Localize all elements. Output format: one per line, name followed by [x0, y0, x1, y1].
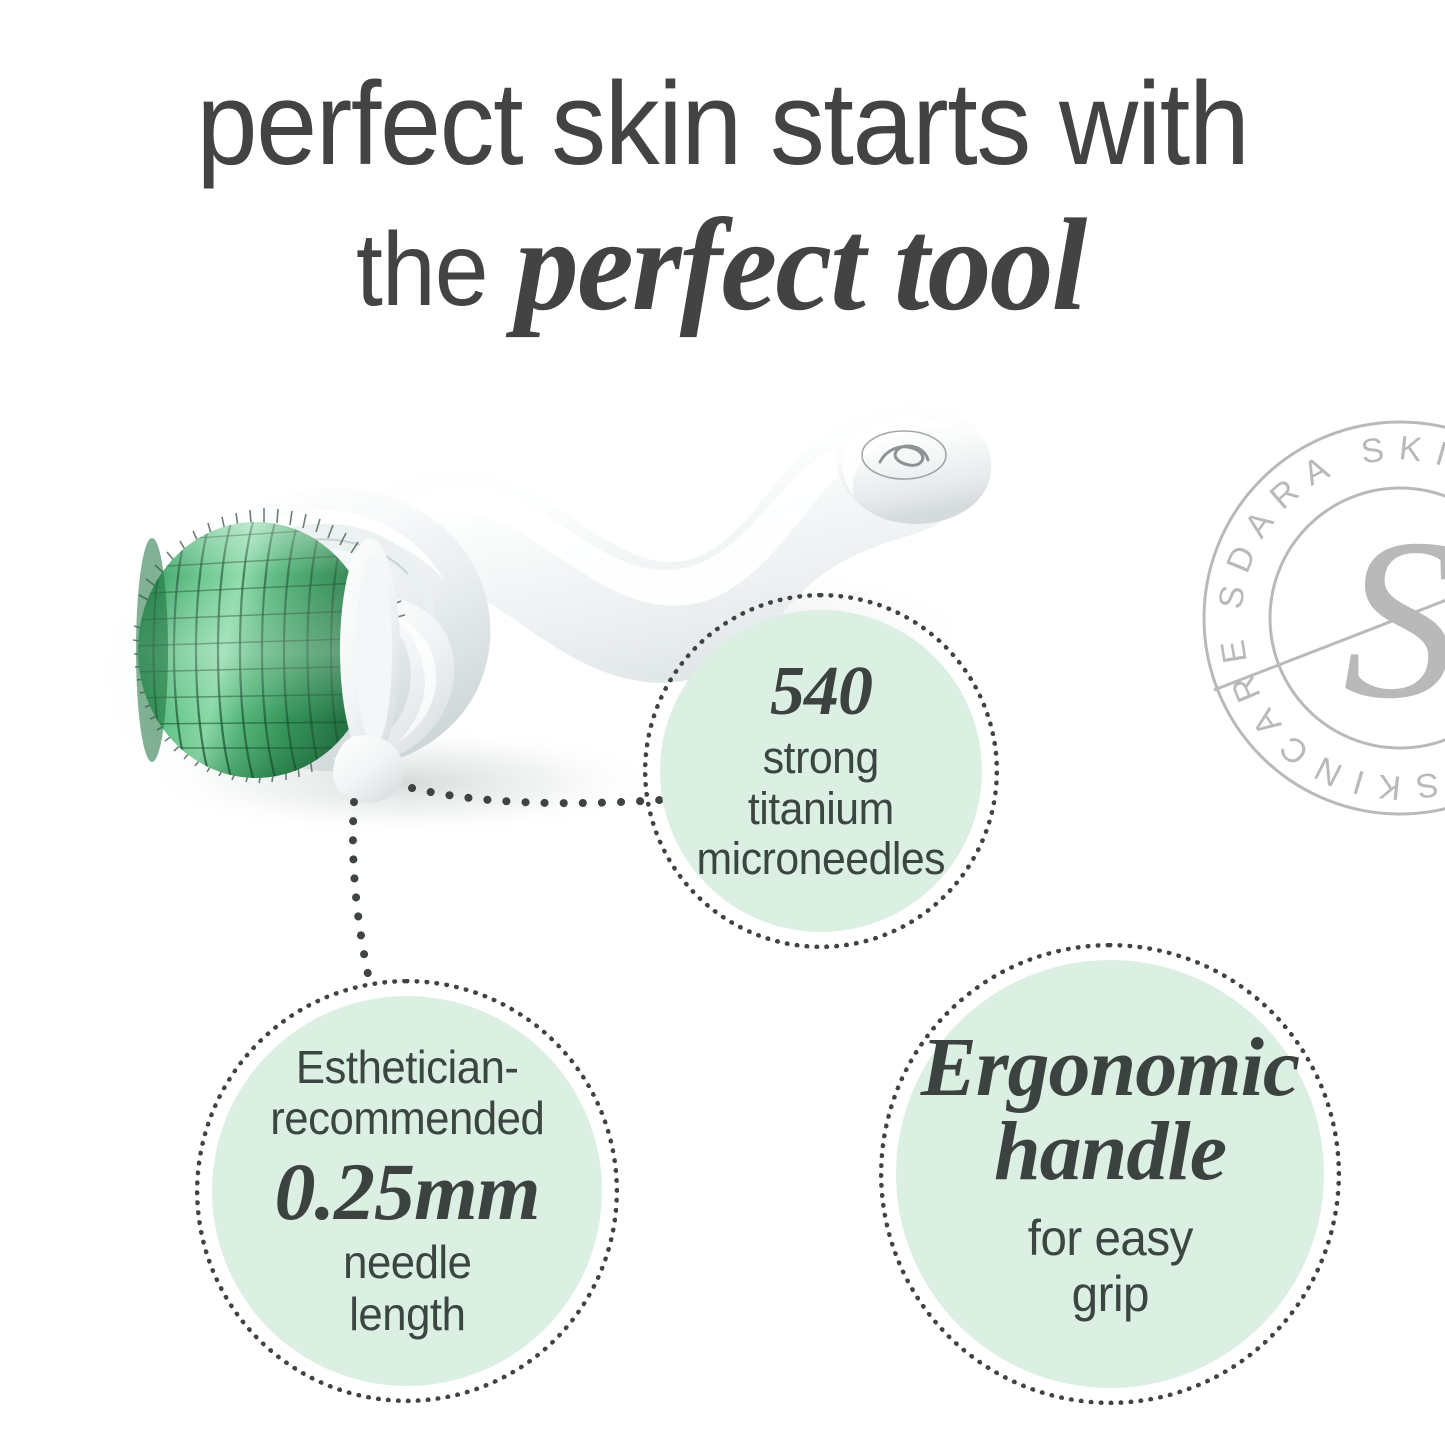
callout-needle-length[interactable]: Esthetician- recommended 0.25mm needle l…	[212, 996, 602, 1386]
logo-monogram: S	[1343, 491, 1445, 746]
callout-length-value: 0.25mm	[274, 1151, 539, 1233]
callout-length-line-3: needle length	[304, 1237, 510, 1340]
callout-ergonomic-handle[interactable]: Ergonomic handle for easy grip	[896, 960, 1324, 1388]
sdara-skincare-logo: SDARA SKINCARE SDARA SKINCARE S	[1200, 418, 1445, 818]
drum-right-hub-inner	[356, 554, 392, 746]
headline-line-2: theperfect tool	[0, 195, 1445, 335]
callout-needles-line-1: strong titanium	[748, 733, 894, 834]
callout-needles-line-2: microneedles	[697, 834, 946, 884]
leader-line-to-needles-bubble	[408, 770, 688, 820]
callout-length-line-2: recommended	[270, 1093, 544, 1145]
callout-needles-value: 540	[770, 657, 872, 727]
callout-handle-line-1: Ergonomic	[921, 1026, 1299, 1110]
callout-handle-line-2: handle	[994, 1110, 1226, 1194]
callout-handle-sub: for easy grip	[989, 1210, 1231, 1322]
headline-line-1: perfect skin starts with	[51, 62, 1395, 187]
callout-needles[interactable]: 540 strong titanium microneedles	[660, 610, 982, 932]
drum-left-rim	[136, 538, 168, 762]
callout-length-line-1: Esthetician-	[296, 1042, 519, 1094]
page-title: perfect skin starts with theperfect tool	[0, 62, 1445, 335]
headline-line-2-emphasis: perfect tool	[515, 195, 1085, 335]
leader-line-to-length-bubble	[330, 798, 410, 998]
infographic-canvas: perfect skin starts with theperfect tool	[0, 0, 1445, 1445]
headline-line-2-thin: the	[356, 215, 488, 325]
